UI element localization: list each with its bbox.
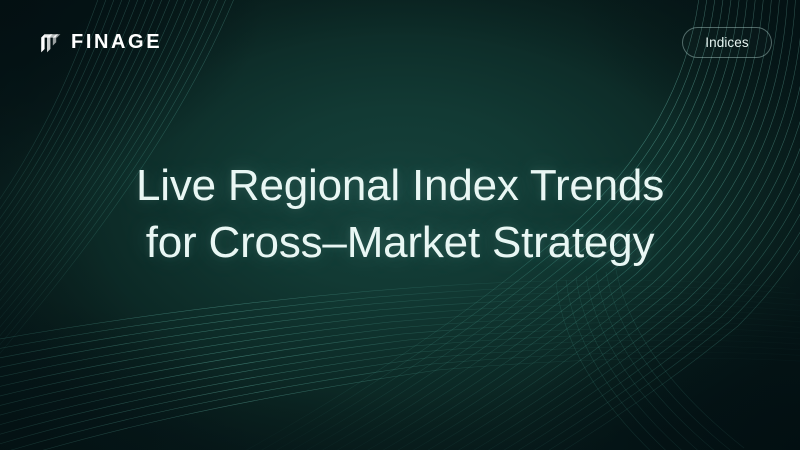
headline-line-2: for Cross–Market Strategy	[40, 215, 760, 272]
category-badge-indices[interactable]: Indices	[682, 27, 772, 58]
page-title: Live Regional Index Trends for Cross–Mar…	[40, 158, 760, 272]
headline-container: Live Regional Index Trends for Cross–Mar…	[0, 158, 800, 272]
banner-header: FINAGE Indices	[0, 0, 800, 84]
finage-logo[interactable]: FINAGE	[40, 31, 162, 53]
finage-chevron-logo-icon	[40, 31, 61, 53]
finage-wordmark: FINAGE	[71, 32, 162, 52]
headline-line-1: Live Regional Index Trends	[40, 158, 760, 215]
finage-hero-banner: FINAGE Indices Live Regional Index Trend…	[0, 0, 800, 450]
